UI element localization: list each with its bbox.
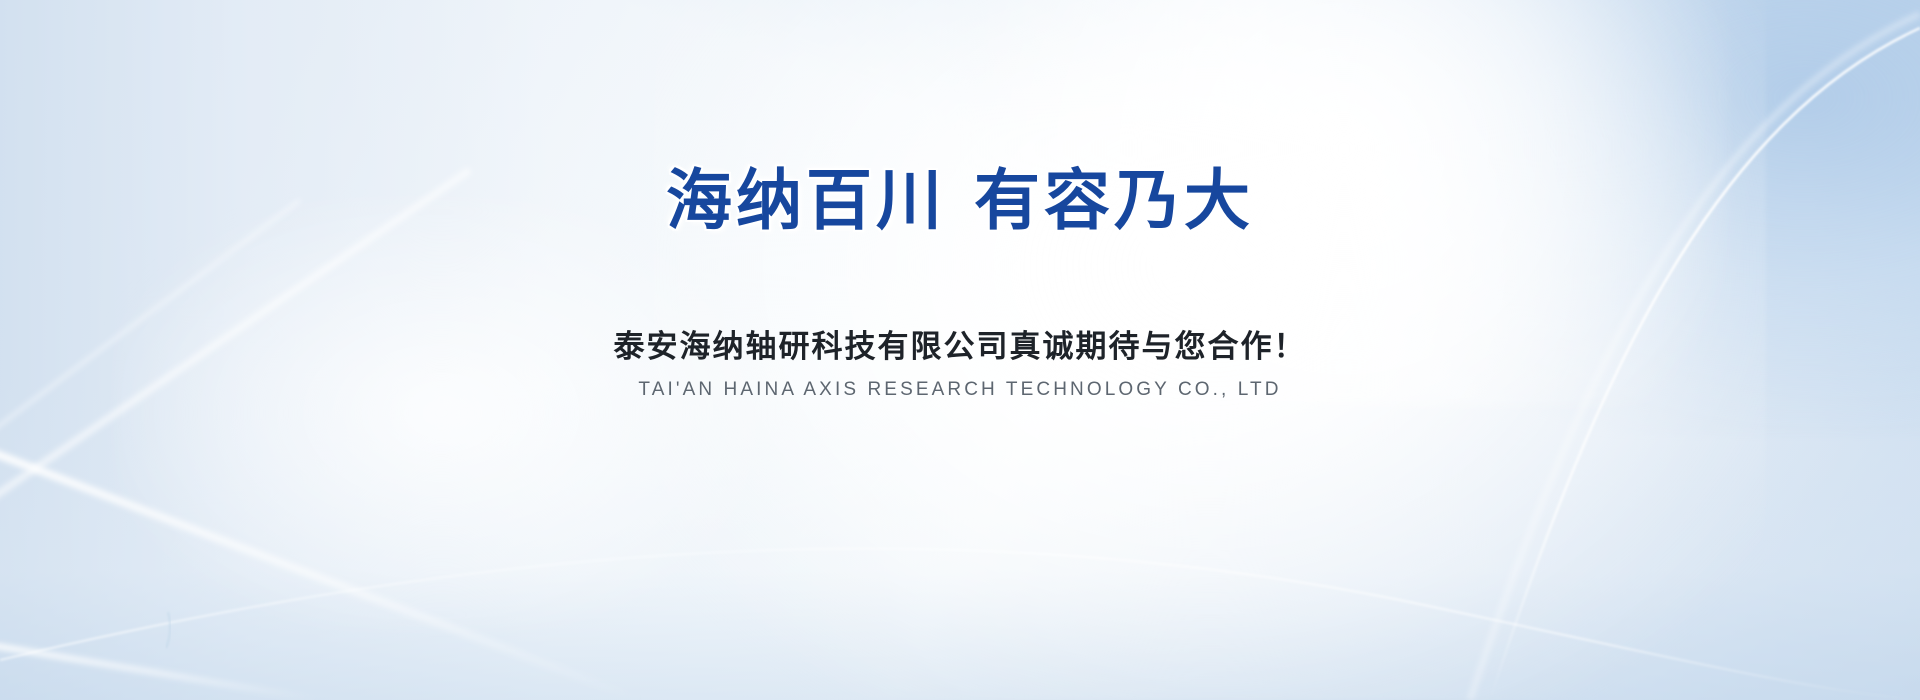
- subtitle-chinese: 泰安海纳轴研科技有限公司真诚期待与您合作！: [614, 321, 1307, 366]
- headline-part-right: 有容乃大: [974, 163, 1254, 237]
- page-title: 海纳百川有容乃大: [666, 166, 1254, 235]
- hero-banner: 海纳百川有容乃大 泰安海纳轴研科技有限公司真诚期待与您合作！ TAI'AN HA…: [0, 0, 1920, 700]
- subtitle-english: TAI'AN HAINA AXIS RESEARCH TECHNOLOGY CO…: [638, 379, 1281, 401]
- banner-content: 海纳百川有容乃大 泰安海纳轴研科技有限公司真诚期待与您合作！ TAI'AN HA…: [0, 0, 1920, 700]
- headline-part-left: 海纳百川: [666, 163, 946, 237]
